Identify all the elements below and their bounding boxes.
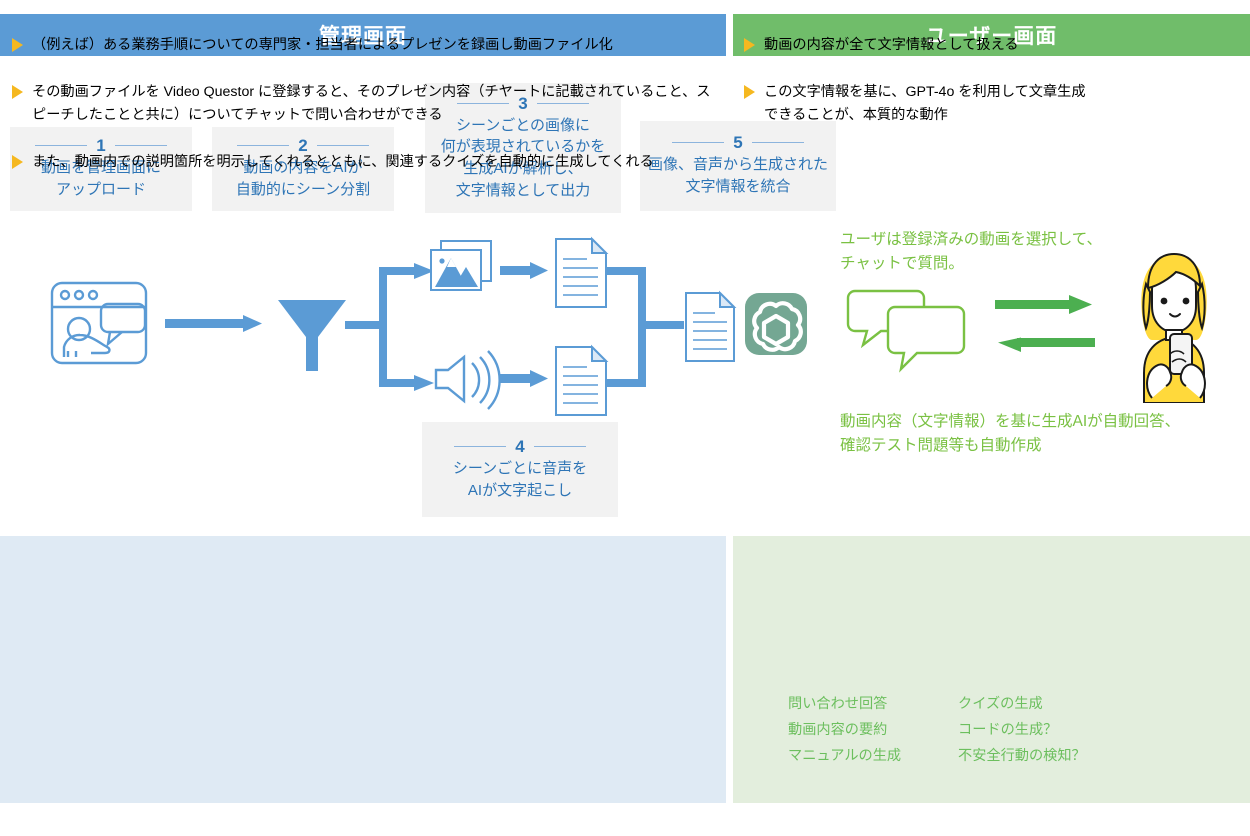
triangle-bullet-icon bbox=[12, 38, 23, 52]
admin-bullet-list: （例えば）ある業務手順についての専門家・担当者によるプレゼンを録画し動画ファイル… bbox=[12, 34, 712, 174]
capability-item: コードの生成？ bbox=[958, 719, 1086, 742]
capability-item: マニュアルの生成 bbox=[788, 745, 958, 768]
bottom-panel-admin bbox=[0, 536, 726, 803]
bullet-text: また、動画内での説明箇所を明示してくれるとともに、関連するクイズを自動的に生成し… bbox=[32, 151, 654, 174]
document-icon-image-branch bbox=[556, 239, 606, 307]
list-item: （例えば）ある業務手順についての専門家・担当者によるプレゼンを録画し動画ファイル… bbox=[12, 34, 712, 57]
user-bullet-list: 動画の内容が全て文字情報として扱える この文字情報を基に、GPT-4o を利用し… bbox=[744, 34, 1224, 127]
capability-item: 不安全行動の検知？ bbox=[958, 745, 1086, 768]
bullet-text: （例えば）ある業務手順についての専門家・担当者によるプレゼンを録画し動画ファイル… bbox=[32, 34, 613, 57]
list-item: また、動画内での説明箇所を明示してくれるとともに、関連するクイズを自動的に生成し… bbox=[12, 151, 712, 174]
triangle-bullet-icon bbox=[12, 155, 23, 169]
step-5-number: 5 bbox=[733, 134, 742, 151]
bullet-text: その動画ファイルを Video Questor に登録すると、そのプレゼン内容（… bbox=[32, 81, 712, 127]
triangle-bullet-icon bbox=[744, 38, 755, 52]
triangle-bullet-icon bbox=[744, 85, 755, 99]
arrow-image-to-document-icon bbox=[500, 262, 548, 279]
triangle-bullet-icon bbox=[12, 85, 23, 99]
merge-connector bbox=[606, 267, 684, 387]
arrow-audio-to-document-icon bbox=[500, 370, 548, 387]
capability-item: 問い合わせ回答 bbox=[788, 693, 958, 716]
arrow-right-icon bbox=[995, 295, 1092, 314]
bullet-text: 動画の内容が全て文字情報として扱える bbox=[764, 34, 1019, 57]
process-flow-diagram bbox=[0, 225, 840, 525]
capability-item: 動画内容の要約 bbox=[788, 719, 958, 742]
user-flow-bottom-text: 動画内容（文字情報）を基に生成AIが自動回答、 確認テスト問題等も自動作成 bbox=[840, 410, 1245, 458]
presentation-window-icon bbox=[52, 283, 146, 363]
rule-right bbox=[752, 142, 804, 143]
capability-list: 問い合わせ回答 クイズの生成 動画内容の要約 コードの生成？ マニュアルの生成 … bbox=[788, 693, 1086, 768]
speaker-sound-icon bbox=[436, 351, 500, 409]
chat-bubbles-icon bbox=[848, 291, 964, 369]
arrow-to-funnel-icon bbox=[165, 315, 262, 332]
bullet-text: この文字情報を基に、GPT-4o を利用して文章生成できることが、本質的な動作 bbox=[764, 81, 1094, 127]
person-with-phone-icon bbox=[1114, 248, 1234, 403]
split-connector bbox=[345, 263, 434, 391]
openai-logo-icon bbox=[745, 293, 807, 355]
funnel-icon bbox=[278, 300, 346, 371]
document-icon-audio-branch bbox=[556, 347, 606, 415]
list-item: 動画の内容が全て文字情報として扱える bbox=[744, 34, 1224, 57]
arrow-left-icon bbox=[998, 338, 1095, 353]
document-icon-merged bbox=[686, 293, 734, 361]
image-stack-icon bbox=[431, 241, 491, 290]
list-item: その動画ファイルを Video Questor に登録すると、そのプレゼン内容（… bbox=[12, 81, 712, 127]
capability-item: クイズの生成 bbox=[958, 693, 1086, 716]
list-item: この文字情報を基に、GPT-4o を利用して文章生成できることが、本質的な動作 bbox=[744, 81, 1224, 127]
